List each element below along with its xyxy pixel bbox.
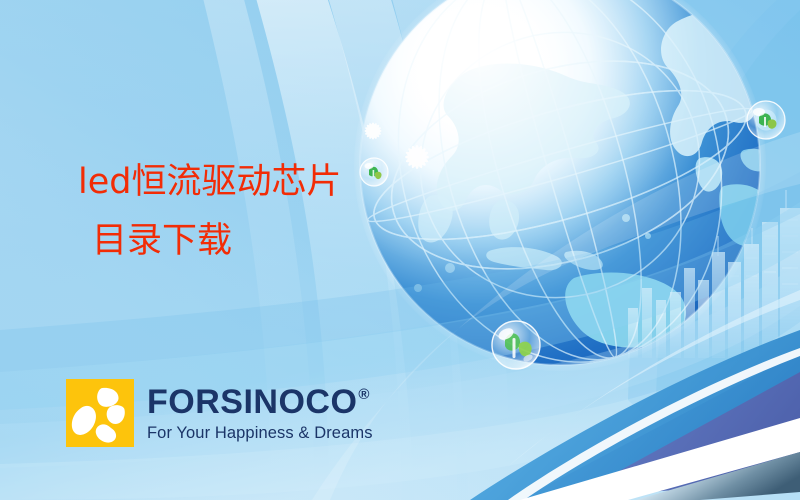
headline-line-1: led恒流驱动芯片 [78, 160, 341, 205]
bubble-globe-top-left [360, 158, 388, 186]
promo-banner: led恒流驱动芯片 目录下载 FORSINOCO ® [0, 0, 800, 500]
bubble-sprout-bottom [492, 321, 540, 369]
headline-line-2: 目录下载 [78, 219, 341, 264]
logo-tagline: For Your Happiness & Dreams [147, 425, 373, 442]
company-logo[interactable]: FORSINOCO ® For Your Happiness & Dreams [66, 379, 373, 447]
logo-text-block: FORSINOCO ® For Your Happiness & Dreams [147, 385, 373, 442]
pinwheel-flower-mark [66, 379, 134, 447]
bubble-globe-top-right [747, 101, 785, 139]
logo-wordmark: FORSINOCO ® [147, 385, 373, 419]
logo-wordmark-text: FORSINOCO [147, 385, 357, 419]
pinwheel-flower-icon [66, 379, 134, 447]
headline-text: led恒流驱动芯片 目录下载 [78, 160, 341, 264]
daisy-sparkle-large [405, 145, 429, 169]
registered-trademark-icon: ® [358, 387, 370, 402]
